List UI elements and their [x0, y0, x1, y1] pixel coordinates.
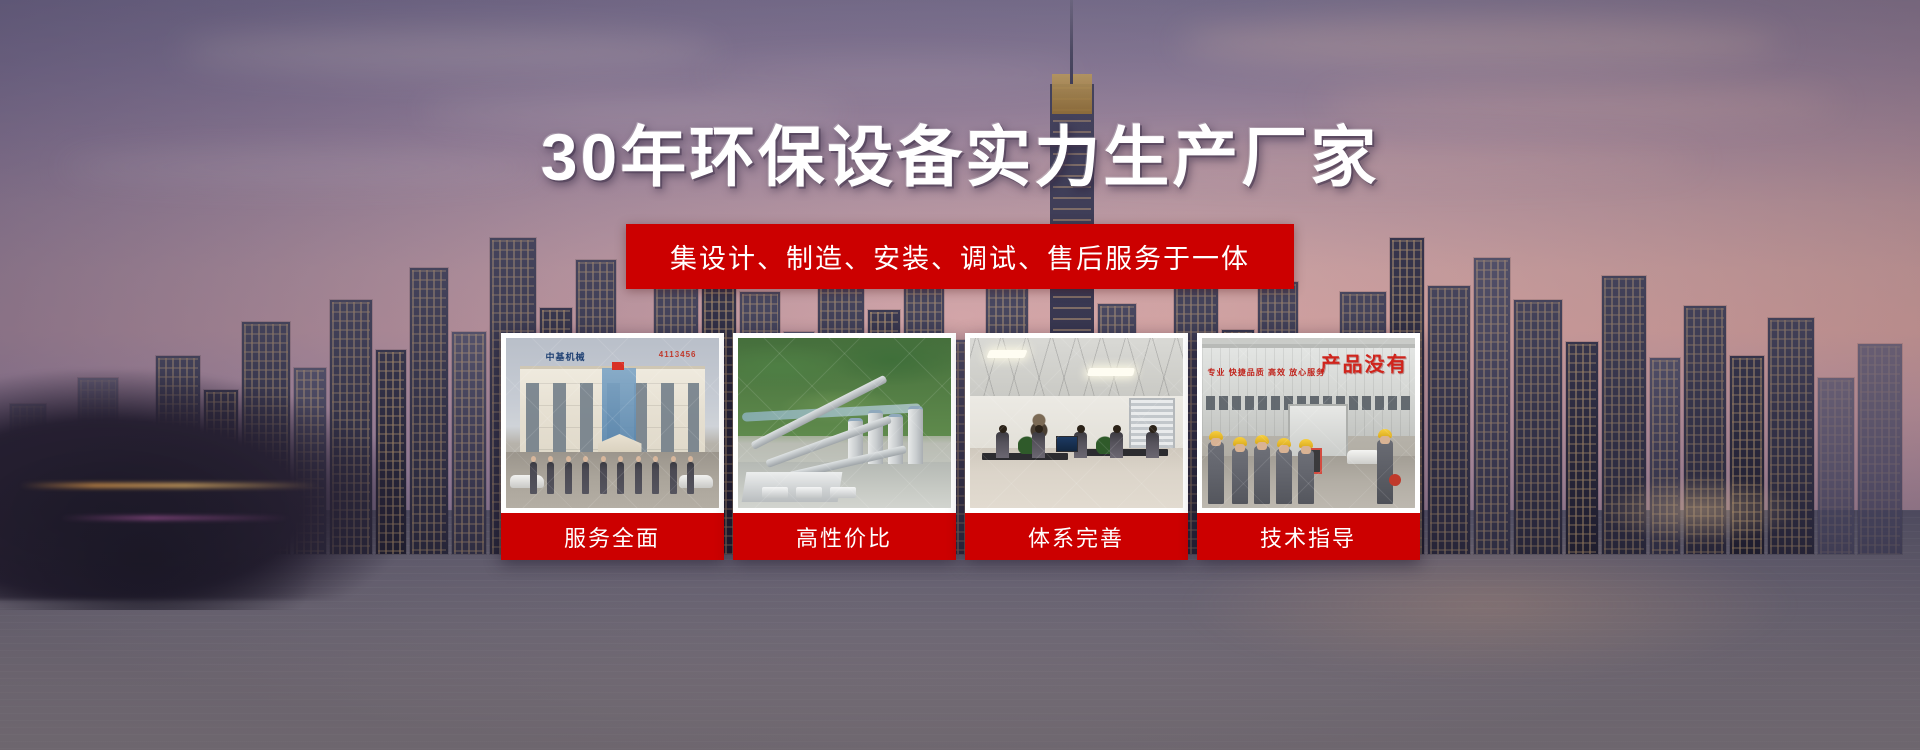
card-photo-office-interior	[970, 338, 1183, 508]
feature-card-guidance[interactable]: 产品没有 专业 快捷品质 高效 放心服务	[1197, 333, 1420, 560]
building-phone-text: 4113456	[659, 350, 697, 359]
banner-subtitle-bar: 集设计、制造、安装、调试、售后服务于一体	[626, 224, 1294, 289]
feature-card-list: 中基机械 4113456 服务全面	[501, 333, 1420, 560]
worker-figure	[1298, 450, 1314, 504]
worker-figure	[1276, 449, 1292, 504]
feature-card-value[interactable]: 高性价比	[733, 333, 956, 560]
banner-content: 30年环保设备实力生产厂家 集设计、制造、安装、调试、售后服务于一体 中基机械 …	[0, 0, 1920, 750]
card-label-guidance[interactable]: 技术指导	[1197, 513, 1420, 560]
worker-figure	[1254, 446, 1270, 504]
feature-card-system[interactable]: 体系完善	[965, 333, 1188, 560]
hero-banner: 30年环保设备实力生产厂家 集设计、制造、安装、调试、售后服务于一体 中基机械 …	[0, 0, 1920, 750]
worker-figure	[1232, 448, 1248, 504]
factory-slogan-text: 专业 快捷品质 高效 放心服务	[1208, 368, 1326, 378]
card-label-value[interactable]: 高性价比	[733, 513, 956, 560]
card-photo-industrial-plant	[738, 338, 951, 508]
supervisor-figure	[1377, 440, 1393, 504]
banner-headline: 30年环保设备实力生产厂家	[541, 104, 1379, 200]
card-label-service[interactable]: 服务全面	[501, 513, 724, 560]
red-helmet-icon	[1389, 474, 1401, 486]
building-sign-text: 中基机械	[546, 350, 586, 363]
feature-card-service[interactable]: 中基机械 4113456 服务全面	[501, 333, 724, 560]
card-photo-office-building: 中基机械 4113456	[506, 338, 719, 508]
worker-figure	[1208, 442, 1224, 504]
factory-sign-text: 产品没有	[1321, 348, 1409, 377]
card-label-system[interactable]: 体系完善	[965, 513, 1188, 560]
card-photo-factory-workers: 产品没有 专业 快捷品质 高效 放心服务	[1202, 338, 1415, 508]
flag-icon	[612, 362, 624, 370]
